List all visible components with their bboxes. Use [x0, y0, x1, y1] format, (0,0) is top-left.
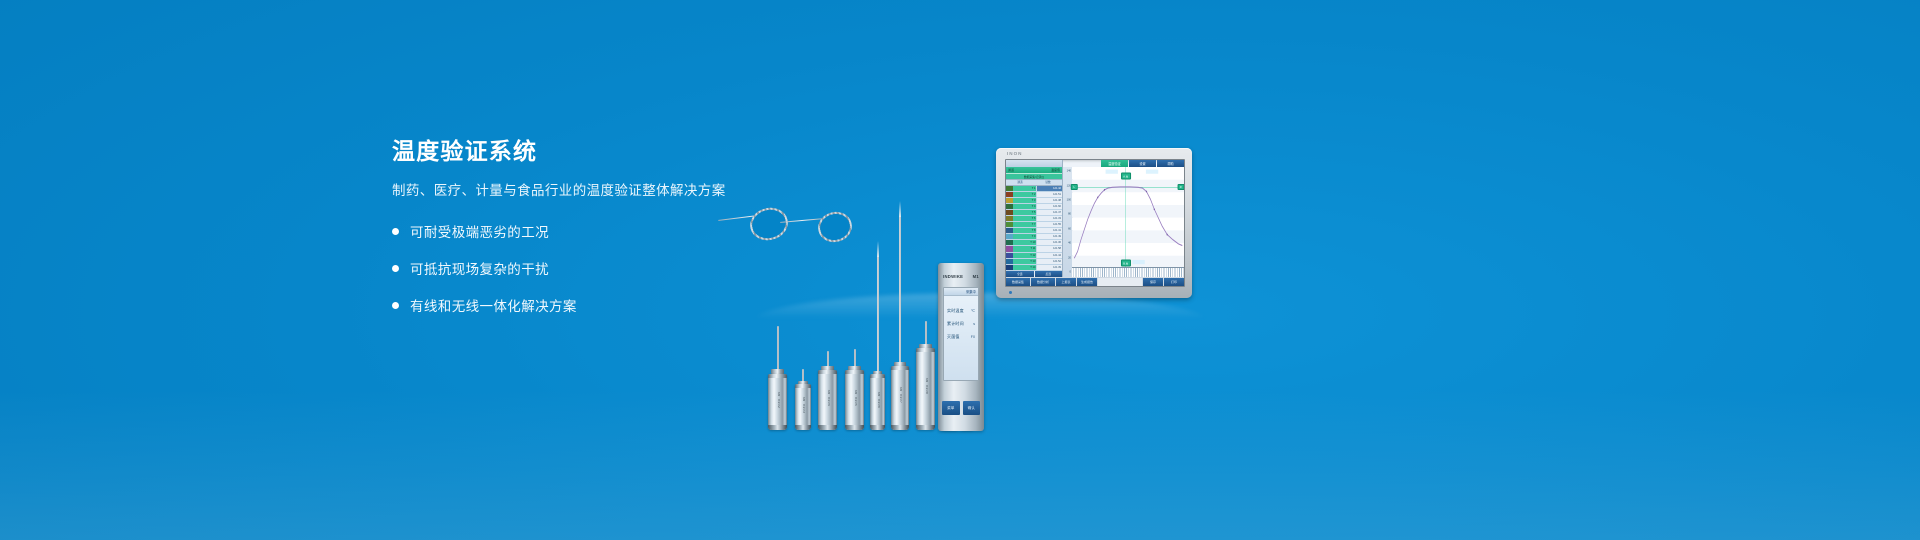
y-tick: 0	[1070, 270, 1071, 273]
tab-group[interactable]: 温度验证 设置 帮助	[1063, 160, 1184, 167]
channel-name: T 10	[1013, 240, 1036, 245]
channel-color-swatch	[1006, 198, 1013, 203]
channel-name: T 14	[1013, 265, 1036, 270]
toolbar-generate-report-button[interactable]: 生成报告	[1077, 278, 1097, 286]
logger-body: SN 0107	[891, 366, 909, 430]
page-subtitle: 制药、医疗、计量与食品行业的温度验证整体解决方案	[392, 182, 822, 200]
tabbar-left-filler	[1006, 160, 1063, 167]
monitor-screen: 温度验证 设置 帮助 通道 温度值 数据采集/记录仪 通道	[1005, 159, 1185, 287]
list-item: 可抵抗现场复杂的干扰	[392, 258, 822, 278]
handheld-model: M1	[973, 274, 979, 279]
channel-name: T 8	[1013, 228, 1036, 233]
handheld-terminal[interactable]: INDWIKE M1 采集中 实时温度 ℃ 累计时间 s	[938, 263, 984, 431]
hero-banner: 温度验证系统 制药、医疗、计量与食品行业的温度验证整体解决方案 可耐受极端恶劣的…	[0, 0, 1920, 540]
logger-4: SN 0105	[845, 368, 864, 430]
logger-label: SN 0105	[853, 389, 857, 406]
needle-tip-icon	[877, 241, 879, 257]
tab-settings[interactable]: 设置	[1129, 160, 1156, 167]
feature-list: 可耐受极端恶劣的工况 可抵抗现场复杂的干扰 有线和无线一体化解决方案	[392, 221, 822, 315]
temperature-chart: 140 120 100 80 60 40 20 0	[1063, 167, 1184, 277]
bullet-dot-icon	[392, 228, 399, 235]
logger-body: SN 0102	[768, 374, 787, 430]
y-tick: 60	[1068, 227, 1071, 230]
toolbar-print-button[interactable]: 打印	[1164, 278, 1184, 286]
needle-tip-icon	[899, 201, 901, 217]
bullet-dot-icon	[392, 265, 399, 272]
channel-color-swatch	[1006, 186, 1013, 191]
channel-color-swatch	[1006, 234, 1013, 239]
y-tick: 100	[1067, 199, 1071, 202]
channel-value: 121.44	[1036, 253, 1062, 258]
logger-label: SN 0107	[898, 387, 902, 404]
list-item: 累计时间 s	[947, 321, 975, 327]
channel-color-swatch	[1006, 259, 1013, 264]
logger-6: SN 0107	[891, 364, 909, 430]
reading-label: 实时温度	[947, 308, 964, 314]
tab-help[interactable]: 帮助	[1157, 160, 1184, 167]
sidebar-header-left: 通道	[1008, 168, 1014, 172]
sidebar-header-right: 温度值	[1051, 168, 1060, 172]
logger-body: SN 0108	[916, 348, 935, 430]
probe-stem	[777, 326, 779, 372]
channel-color-swatch	[1006, 246, 1013, 251]
app-tabbar: 温度验证 设置 帮助	[1006, 160, 1184, 167]
list-item: 实时温度 ℃	[947, 308, 975, 314]
power-led-icon	[1009, 291, 1012, 294]
channel-sidebar: 通道 温度值 数据采集/记录仪 通道 读数 T 1 121.	[1006, 167, 1063, 277]
tab-temperature-validation[interactable]: 温度验证	[1101, 160, 1128, 167]
channel-value: 121.55	[1036, 222, 1062, 227]
channel-value: 121.39	[1036, 265, 1062, 270]
channel-name: T 3	[1013, 198, 1036, 203]
table-row[interactable]: T 14 121.39	[1006, 265, 1062, 271]
handheld-brand-row: INDWIKE M1	[938, 274, 984, 279]
handheld-confirm-key[interactable]: 确认	[963, 401, 981, 415]
logger-label: SN 0103	[801, 397, 805, 414]
app-toolbar[interactable]: 数据采集 数据分析 上报表 生成报告 保存 打印	[1006, 277, 1184, 286]
channel-value: 121.38	[1036, 198, 1062, 203]
feature-text: 可耐受极端恶劣的工况	[410, 221, 549, 241]
app-body: 通道 温度值 数据采集/记录仪 通道 读数 T 1 121.	[1006, 167, 1184, 277]
logger-body: SN 0105	[845, 370, 864, 430]
logger-label: SN 0106	[876, 392, 880, 409]
column-header-value: 读数	[1034, 180, 1062, 185]
chart-svg	[1072, 167, 1184, 268]
channel-name: T 2	[1013, 192, 1036, 197]
channel-value: 121.47	[1036, 210, 1062, 215]
handheld-brand: INDWIKE	[943, 274, 963, 279]
reading-label: 灭菌值	[947, 334, 960, 340]
handheld-status-text: 采集中	[964, 288, 978, 295]
reading-unit: F0	[971, 335, 975, 339]
list-item: 有线和无线一体化解决方案	[392, 295, 822, 315]
channel-name: T 4	[1013, 204, 1036, 209]
toolbar-save-button[interactable]: 保存	[1143, 278, 1163, 286]
channel-value: 121.60	[1036, 204, 1062, 209]
reading-unit: s	[973, 322, 975, 326]
extra-long-needle-probe	[899, 217, 901, 365]
channel-value: 121.49	[1036, 234, 1062, 239]
channel-color-swatch	[1006, 192, 1013, 197]
channel-color-swatch	[1006, 240, 1013, 245]
reading-label: 累计时间	[947, 321, 964, 327]
channel-name: T 6	[1013, 216, 1036, 221]
logger-2: SN 0103	[795, 382, 811, 430]
reading-unit: ℃	[971, 309, 975, 313]
chart-marker-top[interactable]: A 点	[1121, 173, 1131, 180]
y-tick: 80	[1068, 213, 1071, 216]
channel-color-swatch	[1006, 222, 1013, 227]
chart-x-axis-scrollbar[interactable]	[1072, 267, 1184, 277]
toolbar-spacer	[1098, 278, 1142, 286]
logger-3: SN 0104	[818, 368, 837, 430]
validation-workstation-monitor: INON 温度验证 设置 帮助 通道 温度值	[996, 148, 1192, 298]
toolbar-report-button[interactable]: 上报表	[1056, 278, 1076, 286]
channel-value: 121.51	[1036, 192, 1062, 197]
handheld-screen: 采集中 实时温度 ℃ 累计时间 s 灭菌值 F0	[943, 287, 979, 381]
logger-body: SN 0104	[818, 370, 837, 430]
channel-color-swatch	[1006, 204, 1013, 209]
channel-name: T 7	[1013, 222, 1036, 227]
column-header-channel: 通道	[1006, 180, 1034, 185]
channel-value: 121.58	[1036, 246, 1062, 251]
channel-color-swatch	[1006, 228, 1013, 233]
list-item: 灭菌值 F0	[947, 334, 975, 340]
y-tick: 140	[1067, 170, 1071, 173]
feature-text: 可抵抗现场复杂的干扰	[410, 258, 549, 278]
logger-body: SN 0106	[870, 374, 885, 430]
channel-value: 121.33	[1036, 216, 1062, 221]
channel-rows[interactable]: T 1 121.42 T 2 121.51 T 3	[1006, 186, 1062, 272]
channel-color-swatch	[1006, 253, 1013, 258]
logger-1: SN 0102	[768, 372, 787, 430]
handheld-menu-key[interactable]: 菜单	[942, 401, 960, 415]
logger-7: SN 0108	[916, 346, 935, 430]
chart-marker-bottom[interactable]: B 点	[1121, 260, 1131, 267]
channel-color-swatch	[1006, 216, 1013, 221]
toolbar-data-analysis-button[interactable]: 数据分析	[1031, 278, 1055, 286]
channel-name: T 11	[1013, 246, 1036, 251]
channel-color-swatch	[1006, 210, 1013, 215]
logger-label: SN 0104	[826, 389, 830, 406]
feature-text: 有线和无线一体化解决方案	[410, 295, 577, 315]
toolbar-data-acquisition-button[interactable]: 数据采集	[1006, 278, 1030, 286]
channel-value: 121.36	[1036, 240, 1062, 245]
logger-label: SN 0102	[776, 392, 780, 409]
monitor-brand-logo: INON	[1007, 151, 1022, 156]
chart-marker-right[interactable]: R	[1177, 184, 1184, 190]
y-tick: 20	[1068, 256, 1071, 259]
chart-canvas: A 点 L R B 点	[1072, 167, 1184, 268]
handheld-readings: 实时温度 ℃ 累计时间 s 灭菌值 F0	[944, 296, 978, 340]
logger-body: SN 0103	[795, 384, 811, 430]
handheld-keypad[interactable]: 菜单 确认	[942, 401, 980, 415]
channel-color-swatch	[1006, 265, 1013, 270]
banner-copy: 温度验证系统 制药、医疗、计量与食品行业的温度验证整体解决方案 可耐受极端恶劣的…	[392, 138, 822, 332]
channel-value: 121.52	[1036, 259, 1062, 264]
long-needle-probe	[877, 257, 879, 373]
logger-5: SN 0106	[870, 372, 885, 430]
channel-name: T 1	[1013, 186, 1036, 191]
channel-value: 121.41	[1036, 228, 1062, 233]
handheld-statusbar: 采集中	[944, 288, 978, 296]
list-item: 可耐受极端恶劣的工况	[392, 221, 822, 241]
logger-label: SN 0108	[924, 377, 928, 394]
channel-value: 121.42	[1036, 186, 1062, 191]
channel-name: T 13	[1013, 259, 1036, 264]
channel-name: T 12	[1013, 253, 1036, 258]
bullet-dot-icon	[392, 302, 399, 309]
y-tick: 40	[1068, 242, 1071, 245]
channel-name: T 9	[1013, 234, 1036, 239]
channel-name: T 5	[1013, 210, 1036, 215]
chart-marker-left[interactable]: L	[1071, 184, 1077, 190]
page-title: 温度验证系统	[392, 138, 822, 166]
